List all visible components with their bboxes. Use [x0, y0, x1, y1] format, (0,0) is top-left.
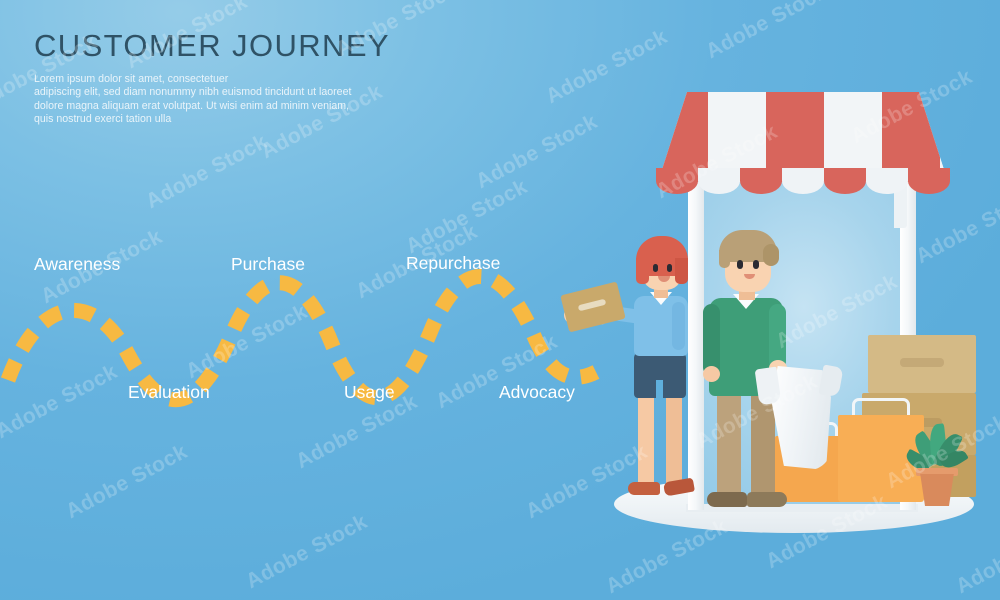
woman-hair-side-left: [636, 258, 649, 284]
awning-scallop: [866, 168, 908, 194]
man-leg-right: [751, 390, 775, 500]
woman-shoe-left: [628, 482, 660, 495]
description-paragraph: Lorem ipsum dolor sit amet, consectetuer…: [34, 73, 364, 127]
woman-arm-back: [672, 302, 685, 350]
journey-stage-usage[interactable]: Usage: [344, 382, 395, 403]
description-line: Lorem ipsum dolor sit amet, consectetuer: [34, 73, 364, 86]
journey-stage-purchase[interactable]: Purchase: [231, 254, 305, 275]
journey-stage-advocacy[interactable]: Advocacy: [499, 382, 575, 403]
journey-stage-repurchase[interactable]: Repurchase: [406, 253, 500, 274]
box-handle-slot: [900, 358, 944, 367]
woman-eye-left: [653, 264, 658, 272]
awning-scallop: [740, 168, 782, 194]
man-hand-left: [703, 366, 720, 382]
customer-journey-path: Awareness Evaluation Purchase Usage Repu…: [0, 232, 640, 412]
description-line: dolore magna aliquam erat volutpat. Ut w…: [34, 100, 364, 113]
man-shoe-right: [747, 492, 787, 507]
storefront-scene: [600, 80, 1000, 540]
awning-scallop: [656, 168, 698, 194]
description-line: adipiscing elit, sed diam nonummy nibh e…: [34, 86, 364, 99]
man-hair-side: [719, 250, 730, 268]
store-awning: [658, 92, 948, 182]
woman-hair-side-right: [675, 258, 688, 284]
woman-leg-right: [666, 390, 682, 488]
journey-stage-evaluation[interactable]: Evaluation: [128, 382, 210, 403]
description-line: quis nostrud exerci tation ulla: [34, 113, 364, 126]
man-eye-right: [753, 260, 759, 269]
watermark-tile: Adobe Stock: [62, 440, 191, 524]
man-leg-left: [717, 390, 741, 500]
watermark-tile: Adobe Stock: [142, 130, 271, 214]
bag-handle-large: [852, 398, 910, 416]
man-hair-tuft: [763, 244, 779, 266]
man-eye-left: [737, 260, 743, 269]
watermark-tile: Adobe Stock: [702, 0, 831, 64]
watermark-tile: Adobe Stock: [472, 110, 601, 194]
man-shoe-left: [707, 492, 747, 507]
held-shirt-sleeve: [819, 364, 844, 397]
woman-eye-right: [667, 264, 672, 272]
awning-scallop: [782, 168, 824, 194]
character-man: [695, 220, 845, 515]
awning-scallop: [698, 168, 740, 194]
watermark-tile: Adobe Stock: [242, 510, 371, 594]
page-title: CUSTOMER JOURNEY: [34, 28, 390, 64]
awning-scallop: [908, 168, 950, 194]
woman-leg-left: [638, 390, 654, 488]
journey-stage-awareness[interactable]: Awareness: [34, 254, 120, 275]
illustration-canvas: CUSTOMER JOURNEY Lorem ipsum dolor sit a…: [0, 0, 1000, 600]
woman-shorts-gap: [656, 380, 663, 400]
awning-scallop: [824, 168, 866, 194]
